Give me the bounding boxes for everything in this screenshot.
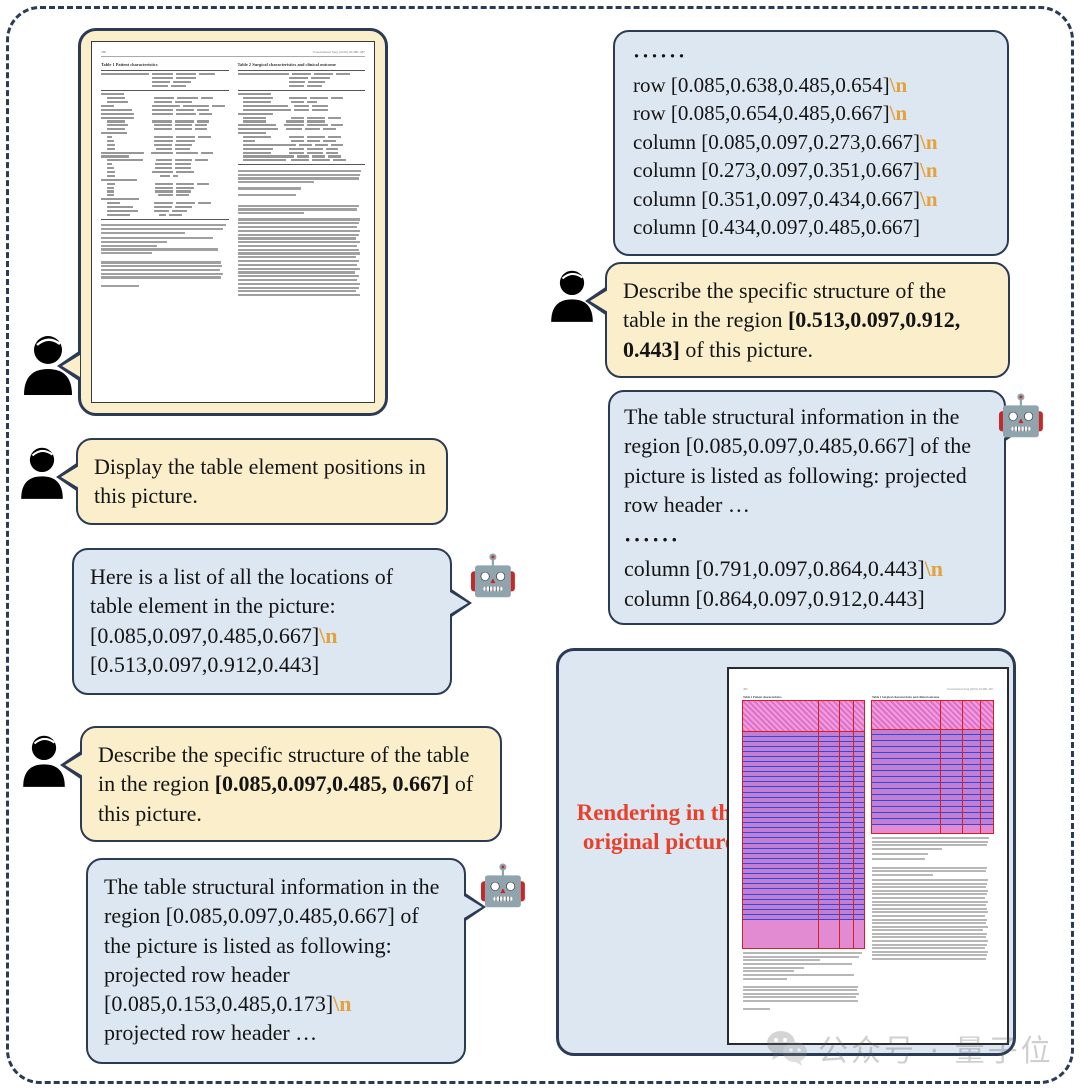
ellipsis-text: ······ [624, 525, 990, 554]
list-line: column [0.864,0.097,0.912,0.443] [624, 584, 990, 613]
rendered-page-preview: 480 J Gastrointest Surg (2016) 20:480–48… [727, 667, 1009, 1045]
list-line: [0.085,0.153,0.485,0.173]\n [104, 989, 448, 1018]
list-line: column [0.351,0.097,0.434,0.667]\n [633, 185, 993, 214]
rendered-column-right: Table 2 Surgical characteristics and cli… [872, 695, 993, 1012]
answer-structure-left-bubble[interactable]: The table structural information in the … [86, 858, 466, 1064]
ask-structure-right-bubble[interactable]: Describe the specific structure of the t… [605, 262, 1010, 378]
answer-positions-bubble[interactable]: Here is a list of all the locations of t… [72, 548, 452, 695]
paper-page-number: 480 [101, 50, 106, 54]
paper-running-head: 480 J Gastrointest Surg (2016) 20:480–48… [101, 50, 365, 57]
ask-structure-left-bubble[interactable]: Describe the specific structure of the t… [80, 726, 502, 842]
rendered-journal-ref: J Gastrointest Surg (2016) 20:480–487 [946, 687, 993, 691]
ask-region-coords: [0.085,0.097,0.485, 0.667] [215, 771, 450, 796]
paper-column-left: Table 1 Patient characteristics [101, 62, 229, 298]
table-header-hatch [743, 701, 864, 731]
table-overlay-left [743, 701, 864, 948]
newline-token: \n [925, 556, 943, 581]
table-overlay-right [872, 701, 993, 833]
bubble-tail [56, 462, 78, 492]
answer-intro: The table structural information in the … [624, 402, 990, 519]
ellipsis-text: ······ [633, 42, 993, 71]
rendering-label: Rendering in the original picture [573, 799, 745, 857]
newline-token: \n [890, 73, 908, 97]
answer-coords: [0.085,0.153,0.485,0.173] [104, 991, 333, 1016]
newline-token: \n [920, 130, 938, 154]
list-line: column [0.434,0.097,0.485,0.667] [633, 213, 993, 242]
newline-token: \n [319, 623, 337, 648]
rendered-page-number: 480 [743, 687, 748, 691]
answer-intro: Here is a list of all the locations of t… [90, 562, 434, 621]
answer-intro: The table structural information in the … [104, 872, 448, 960]
newline-token: \n [890, 101, 908, 125]
list-line: column [0.085,0.097,0.273,0.667]\n [633, 128, 993, 157]
rendered-table1-caption: Table 1 Patient characteristics [743, 695, 864, 699]
list-line: [0.513,0.097,0.912,0.443] [90, 650, 434, 679]
newline-token: \n [920, 187, 938, 211]
robot-avatar-icon: 🤖 [468, 556, 518, 596]
bubble-tail [57, 351, 79, 381]
paper-table2-caption: Table 2 Surgical characteristics and cli… [238, 62, 366, 67]
rendered-table2-caption: Table 2 Surgical characteristics and cli… [872, 695, 993, 699]
rendered-column-left: Table 1 Patient characteristics [743, 695, 864, 1012]
list-line: column [0.791,0.097,0.864,0.443]\n [624, 554, 990, 583]
answer-trailing: projected row header … [104, 1018, 448, 1047]
paper-column-right: Table 2 Surgical characteristics and cli… [238, 62, 366, 298]
ask-positions-bubble[interactable]: Display the table element positions in t… [76, 438, 448, 525]
paper-journal-ref: J Gastrointest Surg (2016) 20:480–487 [312, 50, 365, 54]
list-line: column [0.273,0.097,0.351,0.667]\n [633, 156, 993, 185]
answer-structure-right-bubble[interactable]: The table structural information in the … [608, 390, 1006, 625]
rendering-panel[interactable]: Rendering in the original picture 480 J … [556, 648, 1016, 1056]
bubble-tail [60, 750, 82, 780]
bubble-tail [585, 286, 607, 316]
robot-avatar-icon: 🤖 [478, 866, 528, 906]
location-list-bubble[interactable]: ······ row [0.085,0.638,0.485,0.654]\n r… [613, 30, 1009, 256]
answer-header-label: projected row header [104, 960, 448, 989]
robot-avatar-icon: 🤖 [996, 396, 1046, 436]
paper-table1-caption: Table 1 Patient characteristics [101, 62, 229, 67]
list-line: row [0.085,0.654,0.485,0.667]\n [633, 99, 993, 128]
paper-page-preview: 480 J Gastrointest Surg (2016) 20:480–48… [91, 41, 375, 403]
table-header-hatch [872, 701, 993, 729]
newline-token: \n [920, 158, 938, 182]
ask-text: Display the table element positions in t… [94, 454, 426, 508]
newline-token: \n [333, 991, 351, 1016]
ask-suffix: of this picture. [680, 337, 813, 362]
list-line: [0.085,0.097,0.485,0.667]\n [90, 621, 434, 650]
rendered-page-header: 480 J Gastrointest Surg (2016) 20:480–48… [743, 687, 993, 691]
list-line: row [0.085,0.638,0.485,0.654]\n [633, 71, 993, 100]
paper-thumbnail-bubble[interactable]: 480 J Gastrointest Surg (2016) 20:480–48… [78, 28, 388, 416]
